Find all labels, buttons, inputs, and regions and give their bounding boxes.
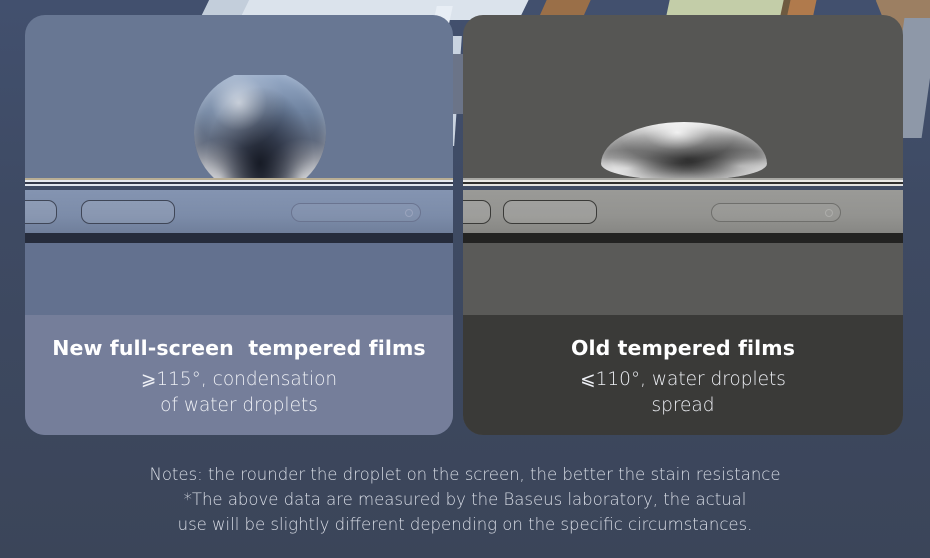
phone-side-rail-new (25, 190, 453, 233)
caption-title-old: Old tempered films (477, 337, 889, 360)
footer-note-line-1: Notes: the rounder the droplet on the sc… (0, 462, 930, 487)
volume-button-down-new (81, 200, 175, 224)
footer-note-line-2: *The above data are measured by the Base… (0, 487, 930, 512)
caption-new-film: New full-screen tempered films ⩾115°, co… (25, 315, 453, 435)
droplet-shape-flat (601, 122, 767, 180)
caption-subtitle-old: ⩽110°, water droplets spread (477, 367, 889, 421)
sim-eject-pinhole-old (825, 209, 833, 217)
film-line-bright-lower (25, 184, 453, 186)
water-droplet-round (180, 75, 340, 180)
phone-side-rail-old (463, 190, 903, 233)
volume-button-up-old (463, 200, 491, 224)
water-droplet-flat (593, 90, 773, 180)
footer-notes: Notes: the rounder the droplet on the sc… (0, 462, 930, 537)
volume-button-down-old (503, 200, 597, 224)
phone-bezel-band-new (25, 233, 453, 243)
film-edge-lines-old (463, 178, 903, 190)
comparison-panel-new-film: New full-screen tempered films ⩾115°, co… (25, 15, 453, 435)
film-edge-lines-new (25, 178, 453, 190)
sim-tray-old (711, 203, 841, 222)
caption-title-new: New full-screen tempered films (39, 337, 439, 360)
footer-note-line-3: use will be slightly different depending… (0, 512, 930, 537)
sim-tray-new (291, 203, 421, 222)
comparison-panel-old-film: Old tempered films ⩽110°, water droplets… (463, 15, 903, 435)
volume-button-up-new (25, 200, 57, 224)
film-line-bright-lower (463, 184, 903, 186)
droplet-shape-round (194, 75, 326, 180)
caption-old-film: Old tempered films ⩽110°, water droplets… (463, 315, 903, 435)
phone-bezel-band-old (463, 233, 903, 243)
sim-eject-pinhole-new (405, 209, 413, 217)
caption-subtitle-new: ⩾115°, condensation of water droplets (39, 367, 439, 421)
